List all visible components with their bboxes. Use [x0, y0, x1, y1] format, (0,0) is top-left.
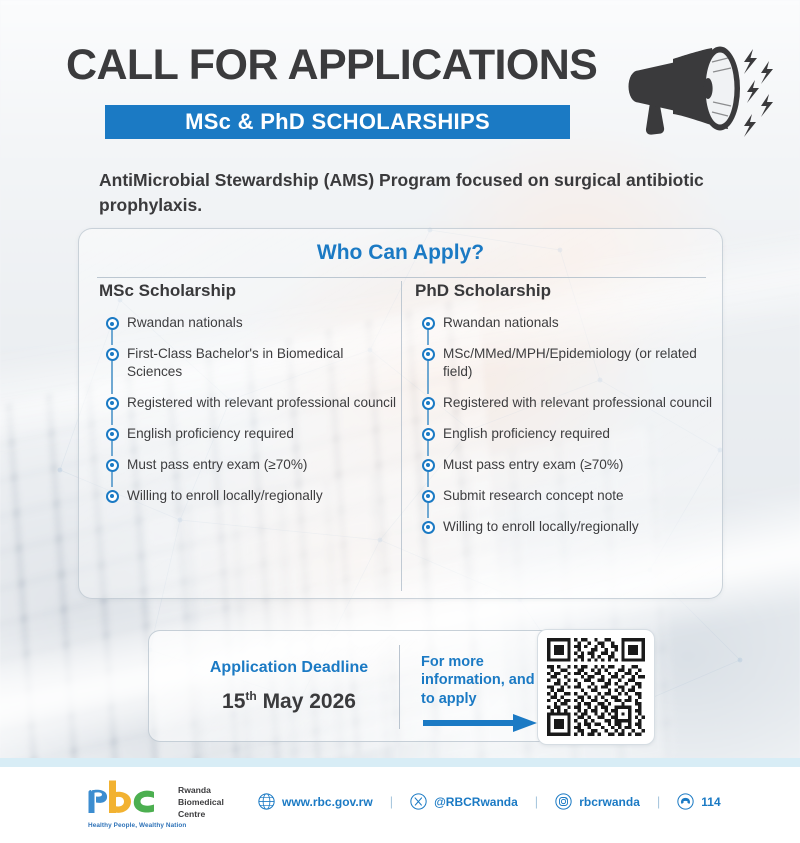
bullet-icon: [97, 486, 127, 505]
phd-column-heading: PhD Scholarship: [413, 281, 713, 301]
requirement-text: Rwandan nationals: [127, 313, 397, 332]
requirement-text: Registered with relevant professional co…: [443, 393, 713, 412]
contact-separator: |: [390, 794, 393, 809]
column-divider: [401, 281, 402, 591]
megaphone-icon: [616, 32, 786, 152]
contact-x-twitter[interactable]: @RBCRwanda: [410, 793, 518, 810]
footer-divider: [0, 758, 800, 767]
requirement-text: First-Class Bachelor's in Biomedical Sci…: [127, 344, 397, 381]
msc-requirements-list: Rwandan nationals First-Class Bachelor's…: [97, 313, 397, 505]
rbc-line-2: Biomedical: [178, 796, 224, 808]
bullet-icon: [413, 455, 443, 474]
deadline-day: 15: [222, 690, 245, 713]
bullet-icon: [413, 486, 443, 505]
requirement-text: English proficiency required: [127, 424, 397, 443]
deadline-vertical-divider: [399, 645, 400, 729]
deadline-card: Application Deadline 15th May 2026 For m…: [148, 630, 598, 742]
requirement-text: Registered with relevant professional co…: [127, 393, 397, 412]
list-item: Submit research concept note: [413, 486, 713, 505]
contact-website[interactable]: www.rbc.gov.rw: [258, 793, 373, 810]
card-divider: [97, 277, 706, 278]
deadline-label: Application Deadline: [179, 659, 399, 677]
contact-instagram[interactable]: rbcrwanda: [555, 793, 640, 810]
list-item: Must pass entry exam (≥70%): [413, 455, 713, 474]
phd-scholarship-column: PhD Scholarship Rwandan nationals MSc/MM…: [413, 281, 713, 548]
list-item: Willing to enroll locally/regionally: [97, 486, 397, 505]
list-item: Registered with relevant professional co…: [97, 393, 397, 412]
poster-root: CALL FOR APPLICATIONS MSc & PhD SCHOLARS…: [0, 0, 800, 843]
contact-phone-label: 114: [701, 795, 720, 809]
bullet-icon: [97, 455, 127, 474]
qr-code[interactable]: [537, 629, 655, 745]
contact-website-label: www.rbc.gov.rw: [282, 795, 373, 809]
program-description: AntiMicrobial Stewardship (AMS) Program …: [99, 168, 709, 218]
x-twitter-icon: [410, 793, 427, 810]
rbc-tagline: Healthy People, Wealthy Nation: [88, 822, 186, 829]
list-item: English proficiency required: [97, 424, 397, 443]
contact-x-twitter-label: @RBCRwanda: [434, 795, 518, 809]
who-can-apply-title: Who Can Apply?: [79, 241, 722, 265]
phd-requirements-list: Rwandan nationals MSc/MMed/MPH/Epidemiol…: [413, 313, 713, 536]
bullet-icon: [413, 393, 443, 412]
bullet-icon: [413, 344, 443, 381]
list-item: Must pass entry exam (≥70%): [97, 455, 397, 474]
contact-separator: |: [657, 794, 660, 809]
msc-scholarship-column: MSc Scholarship Rwandan nationals First-…: [97, 281, 397, 517]
bullet-icon: [97, 393, 127, 412]
who-can-apply-card: Who Can Apply? MSc Scholarship Rwandan n…: [78, 228, 723, 599]
bullet-icon: [97, 344, 127, 381]
deadline-date: 15th May 2026: [179, 689, 399, 714]
phone-icon: [677, 793, 694, 810]
requirement-text: Rwandan nationals: [443, 313, 713, 332]
list-item: Willing to enroll locally/regionally: [413, 517, 713, 536]
bullet-icon: [97, 313, 127, 332]
rbc-logo: [88, 780, 174, 814]
requirement-text: Willing to enroll locally/regionally: [443, 517, 713, 536]
rbc-organization-name: Rwanda Biomedical Centre: [178, 784, 224, 821]
deadline-ordinal: th: [245, 689, 256, 703]
contact-phone[interactable]: 114: [677, 793, 720, 810]
rbc-line-1: Rwanda: [178, 784, 224, 796]
requirement-text: Submit research concept note: [443, 486, 713, 505]
msc-column-heading: MSc Scholarship: [97, 281, 397, 301]
contact-separator: |: [535, 794, 538, 809]
qr-code-image: [546, 638, 646, 736]
requirement-text: MSc/MMed/MPH/Epidemiology (or related fi…: [443, 344, 713, 381]
instagram-icon: [555, 793, 572, 810]
requirement-text: Willing to enroll locally/regionally: [127, 486, 397, 505]
list-item: Registered with relevant professional co…: [413, 393, 713, 412]
list-item: Rwandan nationals: [413, 313, 713, 332]
list-item: English proficiency required: [413, 424, 713, 443]
arrow-right-icon: [423, 713, 538, 733]
sub-banner: MSc & PhD SCHOLARSHIPS: [105, 105, 570, 139]
bullet-icon: [97, 424, 127, 443]
requirement-text: Must pass entry exam (≥70%): [127, 455, 397, 474]
list-item: Rwandan nationals: [97, 313, 397, 332]
page-title: CALL FOR APPLICATIONS: [66, 44, 597, 87]
contact-instagram-label: rbcrwanda: [579, 795, 640, 809]
footer-contacts: www.rbc.gov.rw | @RBCRwanda | rbcrwanda …: [258, 793, 721, 810]
bullet-icon: [413, 517, 443, 536]
globe-icon: [258, 793, 275, 810]
sub-banner-label: MSc & PhD SCHOLARSHIPS: [185, 109, 490, 135]
requirement-text: Must pass entry exam (≥70%): [443, 455, 713, 474]
list-item: First-Class Bachelor's in Biomedical Sci…: [97, 344, 397, 381]
rbc-line-3: Centre: [178, 808, 224, 820]
deadline-month-year: May 2026: [263, 690, 356, 713]
bullet-icon: [413, 424, 443, 443]
requirement-text: English proficiency required: [443, 424, 713, 443]
bullet-icon: [413, 313, 443, 332]
list-item: MSc/MMed/MPH/Epidemiology (or related fi…: [413, 344, 713, 381]
